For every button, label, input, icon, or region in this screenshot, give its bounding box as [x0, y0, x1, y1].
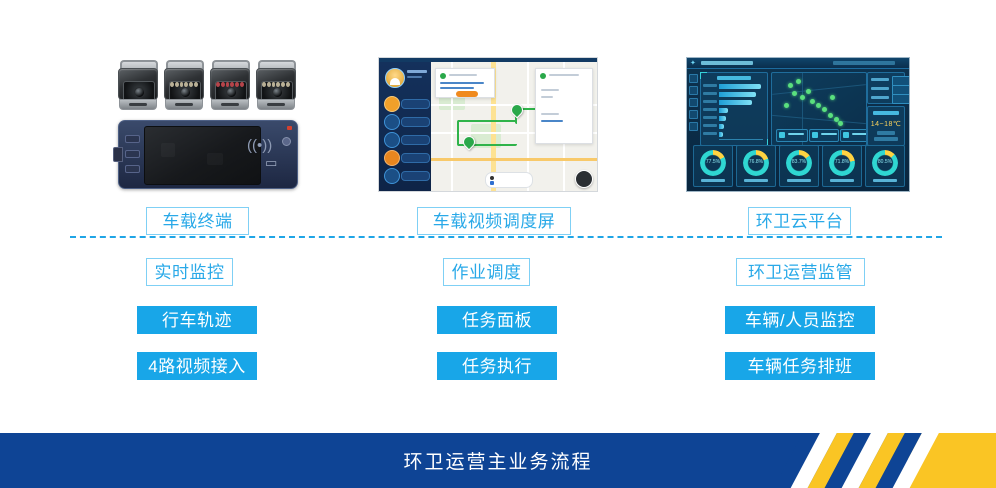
sidebar-item-history[interactable] [384, 114, 428, 128]
card-line [541, 113, 559, 115]
bar-label [703, 124, 717, 127]
bar-label [703, 132, 717, 135]
sidebar-item-label [401, 117, 430, 127]
history-icon [384, 114, 400, 130]
card-line [541, 120, 563, 122]
status-dot-icon [440, 73, 446, 79]
highlight-panel: 14~18℃ [867, 106, 905, 146]
label-grid: 车载终端 车载视频调度屏 环卫云平台 实时监控 作业调度 环卫运营监管 行车轨迹… [0, 200, 996, 400]
camera-icon [256, 60, 294, 110]
gauge-label [787, 179, 811, 182]
vehicle-terminal-device: ((•)) ▭ [118, 120, 298, 189]
panel-title [717, 76, 751, 80]
map-stat-chip [840, 129, 867, 142]
sidebar-item-broadcast[interactable] [384, 132, 428, 146]
feature-four-channel-video[interactable]: 4路视频接入 [137, 352, 257, 380]
bar [719, 100, 752, 105]
sidebar-item-settings[interactable] [384, 168, 428, 182]
map-canvas[interactable] [431, 62, 597, 191]
terminal-side-buttons [125, 135, 139, 180]
camera-icon [118, 60, 156, 110]
dashboard-map[interactable] [771, 72, 867, 146]
feature-task-panel[interactable]: 任务面板 [437, 306, 557, 334]
card-line [541, 96, 553, 98]
footer-banner: 环卫运营主业务流程 [0, 433, 996, 488]
gauge-value: 80.5% [878, 159, 892, 165]
column-subtitle-realtime-monitoring[interactable]: 实时监控 [146, 258, 233, 286]
chart-axis [719, 139, 763, 140]
gauge-card: 77.5% [693, 145, 733, 187]
map-marker[interactable] [838, 121, 843, 126]
camera-lens [272, 87, 283, 98]
gauge-value: 77.5% [706, 159, 720, 165]
dispatch-sidebar [379, 62, 431, 191]
map-main-road [431, 158, 597, 161]
bar [719, 116, 726, 121]
column-subtitle-operation-dispatch[interactable]: 作业调度 [443, 258, 530, 286]
panel-title [873, 111, 899, 115]
camera-body [164, 68, 204, 100]
vehicle-camera-group [118, 60, 294, 112]
avatar [385, 68, 405, 88]
user-role-placeholder [407, 76, 422, 78]
bar [719, 124, 724, 129]
rail-button[interactable] [689, 86, 698, 95]
camera-icon [164, 60, 202, 110]
gauge-value: 71.8% [835, 159, 849, 165]
rail-button[interactable] [689, 110, 698, 119]
location-pin-icon [384, 150, 400, 166]
map-detail-card [535, 68, 593, 144]
terminal-screen [144, 126, 261, 185]
map-marker[interactable] [830, 95, 835, 100]
user-name-placeholder [407, 70, 427, 73]
card-action-button[interactable] [456, 91, 478, 97]
sidebar-item-home[interactable] [384, 96, 428, 110]
sidebar-item-label [401, 171, 430, 181]
map-marker[interactable] [828, 113, 833, 118]
dashboard-header-meta [833, 61, 895, 65]
panel-subtitle [874, 137, 898, 141]
map-marker[interactable] [810, 99, 815, 104]
recording-indicator-icon [287, 126, 292, 130]
card-line [440, 87, 474, 89]
bar-label [703, 108, 717, 111]
column-header-vehicle-terminal[interactable]: 车载终端 [146, 207, 249, 235]
card-title [449, 74, 477, 76]
terminal-connector [113, 147, 123, 162]
gauge-value: 83.7% [792, 159, 806, 165]
bar [719, 132, 723, 137]
card-title [549, 74, 579, 76]
card-line [440, 82, 484, 84]
legend-dot-icon [490, 176, 494, 180]
terminal-power-button [282, 137, 291, 146]
map-marker[interactable] [788, 83, 793, 88]
bar-chart-panel [700, 72, 768, 146]
feature-vehicle-task-scheduling[interactable]: 车辆任务排班 [725, 352, 875, 380]
logo-icon: ✦ [690, 60, 697, 67]
home-icon [384, 96, 400, 112]
map-marker[interactable] [800, 95, 805, 100]
bar [719, 92, 756, 97]
gauge-label [830, 179, 854, 182]
gear-icon [384, 168, 400, 184]
banner-stripe-decoration [780, 433, 996, 488]
highlight-value: 14~18℃ [871, 120, 902, 128]
gauge-label [744, 179, 768, 182]
camera-body [256, 68, 296, 100]
sidebar-item-label [401, 99, 430, 109]
gauge-label [701, 179, 725, 182]
nfc-card-icon: ▭ [265, 155, 285, 171]
gauge-card: 83.7% [779, 145, 819, 187]
camera-mount [257, 99, 295, 110]
nfc-wave-icon: ((•)) [247, 135, 269, 157]
camera-mount [165, 99, 203, 110]
dispatch-map-screenshot [378, 57, 598, 192]
map-road [772, 84, 866, 95]
map-info-card [435, 68, 495, 98]
bar [719, 108, 728, 113]
map-stat-chip [809, 129, 839, 142]
map-marker[interactable] [806, 89, 811, 94]
compass-icon[interactable] [575, 170, 593, 188]
camera-lens [226, 87, 237, 98]
camera-mount [119, 99, 157, 110]
dashboard-title [701, 61, 753, 65]
gauge-card: 76.8% [736, 145, 776, 187]
gauge-label [873, 179, 897, 182]
slide-root: ((•)) ▭ [0, 0, 996, 488]
camera-lens [180, 87, 191, 98]
camera-body [118, 68, 158, 100]
map-marker[interactable] [792, 91, 797, 96]
cloud-dashboard-screenshot: ✦ [686, 57, 910, 192]
bar-label [703, 100, 717, 103]
bar-label [703, 84, 717, 87]
bar-label [703, 116, 717, 119]
media-row: ((•)) ▭ [0, 0, 996, 200]
section-divider [70, 236, 942, 238]
map-road [772, 115, 866, 124]
legend-dot-icon [490, 181, 494, 185]
map-marker[interactable] [796, 79, 801, 84]
map-legend [485, 172, 533, 188]
map-marker[interactable] [784, 103, 789, 108]
sidebar-item-label [401, 153, 430, 163]
gauge-value: 76.8% [749, 159, 763, 165]
card-line [541, 89, 559, 91]
status-dot-icon [540, 73, 546, 79]
map-marker[interactable] [816, 103, 821, 108]
column-header-sanitation-cloud-platform[interactable]: 环卫云平台 [748, 207, 851, 235]
speaker-icon [384, 132, 400, 148]
camera-mount [211, 99, 249, 110]
camera-lens [134, 87, 145, 98]
dashboard-header: ✦ [687, 58, 909, 69]
rail-button[interactable] [689, 122, 698, 131]
bar-label [703, 92, 717, 95]
map-stat-chip [776, 129, 808, 142]
rail-button[interactable] [689, 98, 698, 107]
gauge-card: 80.5% [865, 145, 905, 187]
gauge-card: 71.8% [822, 145, 862, 187]
column-subtitle-sanitation-supervision[interactable]: 环卫运营监管 [736, 258, 865, 286]
bar [719, 84, 761, 89]
feature-vehicle-personnel-monitoring[interactable]: 车辆/人员监控 [725, 306, 875, 334]
rail-button[interactable] [689, 74, 698, 83]
column-header-video-dispatch-screen[interactable]: 车载视频调度屏 [417, 207, 571, 235]
feature-task-execution[interactable]: 任务执行 [437, 352, 557, 380]
map-marker[interactable] [822, 107, 827, 112]
feature-driving-track[interactable]: 行车轨迹 [137, 306, 257, 334]
camera-body [210, 68, 250, 100]
sidebar-item-location[interactable] [384, 150, 428, 164]
status-panel [867, 72, 905, 104]
camera-icon [210, 60, 248, 110]
panel-subtitle [877, 131, 895, 135]
sidebar-item-label [401, 135, 430, 145]
